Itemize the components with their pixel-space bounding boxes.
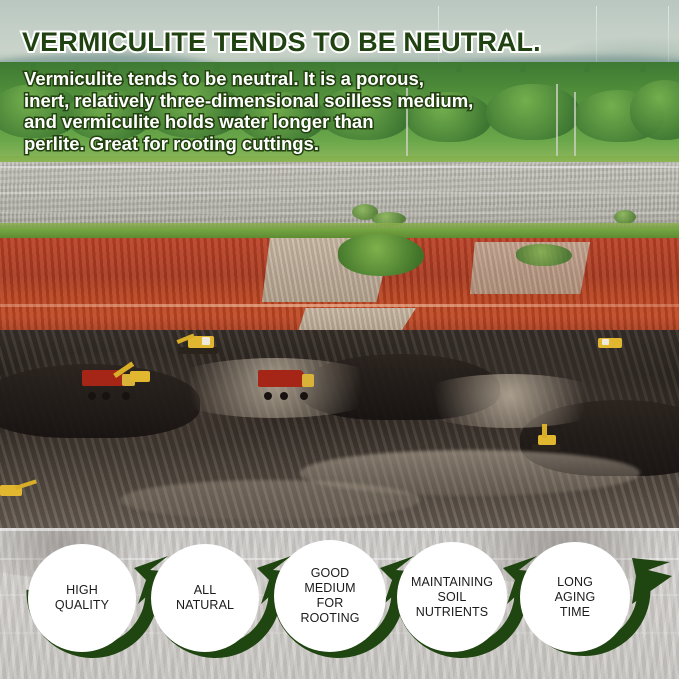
flow-step-soil-nutrients[interactable]: MAINTAINING SOIL NUTRIENTS	[397, 542, 507, 652]
body-line-4: perlite. Great for rooting cuttings.	[24, 133, 494, 155]
arrow-head-5	[632, 558, 672, 604]
yellow-excavator	[0, 472, 40, 496]
body-copy: Vermiculite tends to be neutral. It is a…	[24, 68, 494, 154]
flow-step-label: GOOD MEDIUM FOR ROOTING	[300, 566, 359, 626]
flow-step-all-natural[interactable]: ALL NATURAL	[151, 544, 259, 652]
yellow-excavator	[176, 330, 222, 354]
page-title: VERMICULITE TENDS TO BE NEUTRAL.	[22, 27, 541, 58]
flow-step-good-medium-rooting[interactable]: GOOD MEDIUM FOR ROOTING	[274, 540, 386, 652]
body-line-1: Vermiculite tends to be neutral. It is a…	[24, 68, 494, 90]
flow-step-label: ALL NATURAL	[176, 583, 234, 613]
red-haul-truck	[258, 370, 316, 400]
yellow-excavator	[594, 330, 628, 350]
flow-step-long-aging-time[interactable]: LONG AGING TIME	[520, 542, 630, 652]
body-line-3: and vermiculite holds water longer than	[24, 111, 494, 133]
body-line-2: inert, relatively three-dimensional soil…	[24, 90, 494, 112]
feature-flow-diagram: HIGH QUALITY ALL NATURAL GOOD MEDIUM FOR…	[0, 528, 679, 679]
flow-step-high-quality[interactable]: HIGH QUALITY	[28, 544, 136, 652]
gravel-embankment-band	[0, 162, 679, 232]
flow-step-label: MAINTAINING SOIL NUTRIENTS	[411, 575, 493, 620]
open-pit-band	[0, 330, 679, 530]
red-terraced-wall-band	[0, 228, 679, 338]
flow-step-label: LONG AGING TIME	[555, 575, 596, 620]
yellow-excavator	[530, 426, 564, 450]
yellow-excavator	[116, 360, 156, 384]
flow-step-label: HIGH QUALITY	[55, 583, 109, 613]
poster: VERMICULITE TENDS TO BE NEUTRAL. Vermicu…	[0, 0, 679, 679]
